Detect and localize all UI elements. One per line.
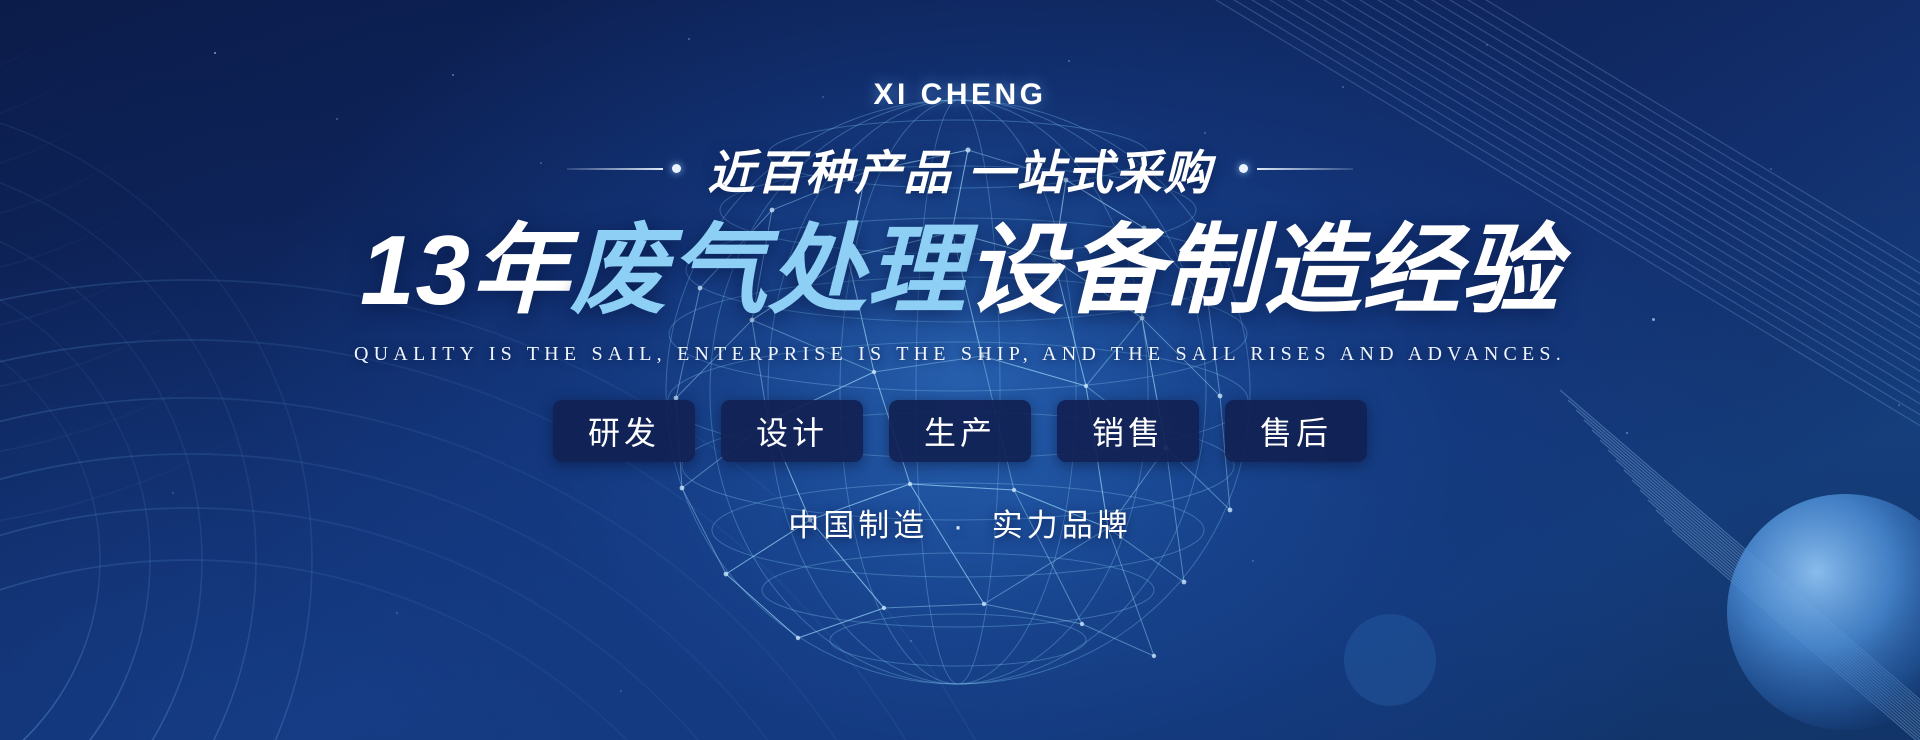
pill-label: 售后 <box>1260 408 1332 454</box>
service-pill-aftersales[interactable]: 售后 <box>1225 400 1367 462</box>
footer-slogan-left: 中国制造 <box>788 508 928 543</box>
service-pill-rd[interactable]: 研发 <box>553 400 695 462</box>
hero-banner: XI CHENG 近百种产品 一站式采购 13年废气处理设备制造经验 QUALI… <box>0 0 1920 740</box>
divider-right <box>1239 164 1353 173</box>
brand-name-en: XI CHENG <box>873 78 1046 112</box>
pill-label: 研发 <box>588 408 660 454</box>
banner-headline: 13年废气处理设备制造经验 <box>360 213 1560 329</box>
subtitle-row: 近百种产品 一站式采购 <box>567 134 1352 203</box>
service-pill-design[interactable]: 设计 <box>721 400 863 462</box>
divider-dot-left <box>672 164 681 173</box>
headline-part-years: 13年 <box>360 215 570 325</box>
divider-left <box>567 164 681 173</box>
headline-part-highlight: 废气处理 <box>570 215 966 325</box>
divider-bar-left <box>567 168 663 170</box>
headline-part-tail: 设备制造经验 <box>966 215 1560 325</box>
footer-separator-dot: · <box>941 508 979 543</box>
footer-slogan-right: 实力品牌 <box>992 508 1132 543</box>
service-pill-production[interactable]: 生产 <box>889 400 1031 462</box>
pill-label: 设计 <box>756 408 828 454</box>
banner-content: XI CHENG 近百种产品 一站式采购 13年废气处理设备制造经验 QUALI… <box>0 0 1920 740</box>
pill-label: 销售 <box>1092 408 1164 454</box>
banner-footer-slogan: 中国制造 · 实力品牌 <box>788 500 1132 545</box>
service-pill-list: 研发 设计 生产 销售 售后 <box>553 400 1367 462</box>
service-pill-sales[interactable]: 销售 <box>1057 400 1199 462</box>
pill-label: 生产 <box>924 408 996 454</box>
banner-tagline-en: QUALITY IS THE SAIL, ENTERPRISE IS THE S… <box>354 343 1566 366</box>
banner-subtitle: 近百种产品 一站式采购 <box>707 134 1212 203</box>
divider-bar-right <box>1257 168 1353 170</box>
divider-dot-right <box>1239 164 1248 173</box>
